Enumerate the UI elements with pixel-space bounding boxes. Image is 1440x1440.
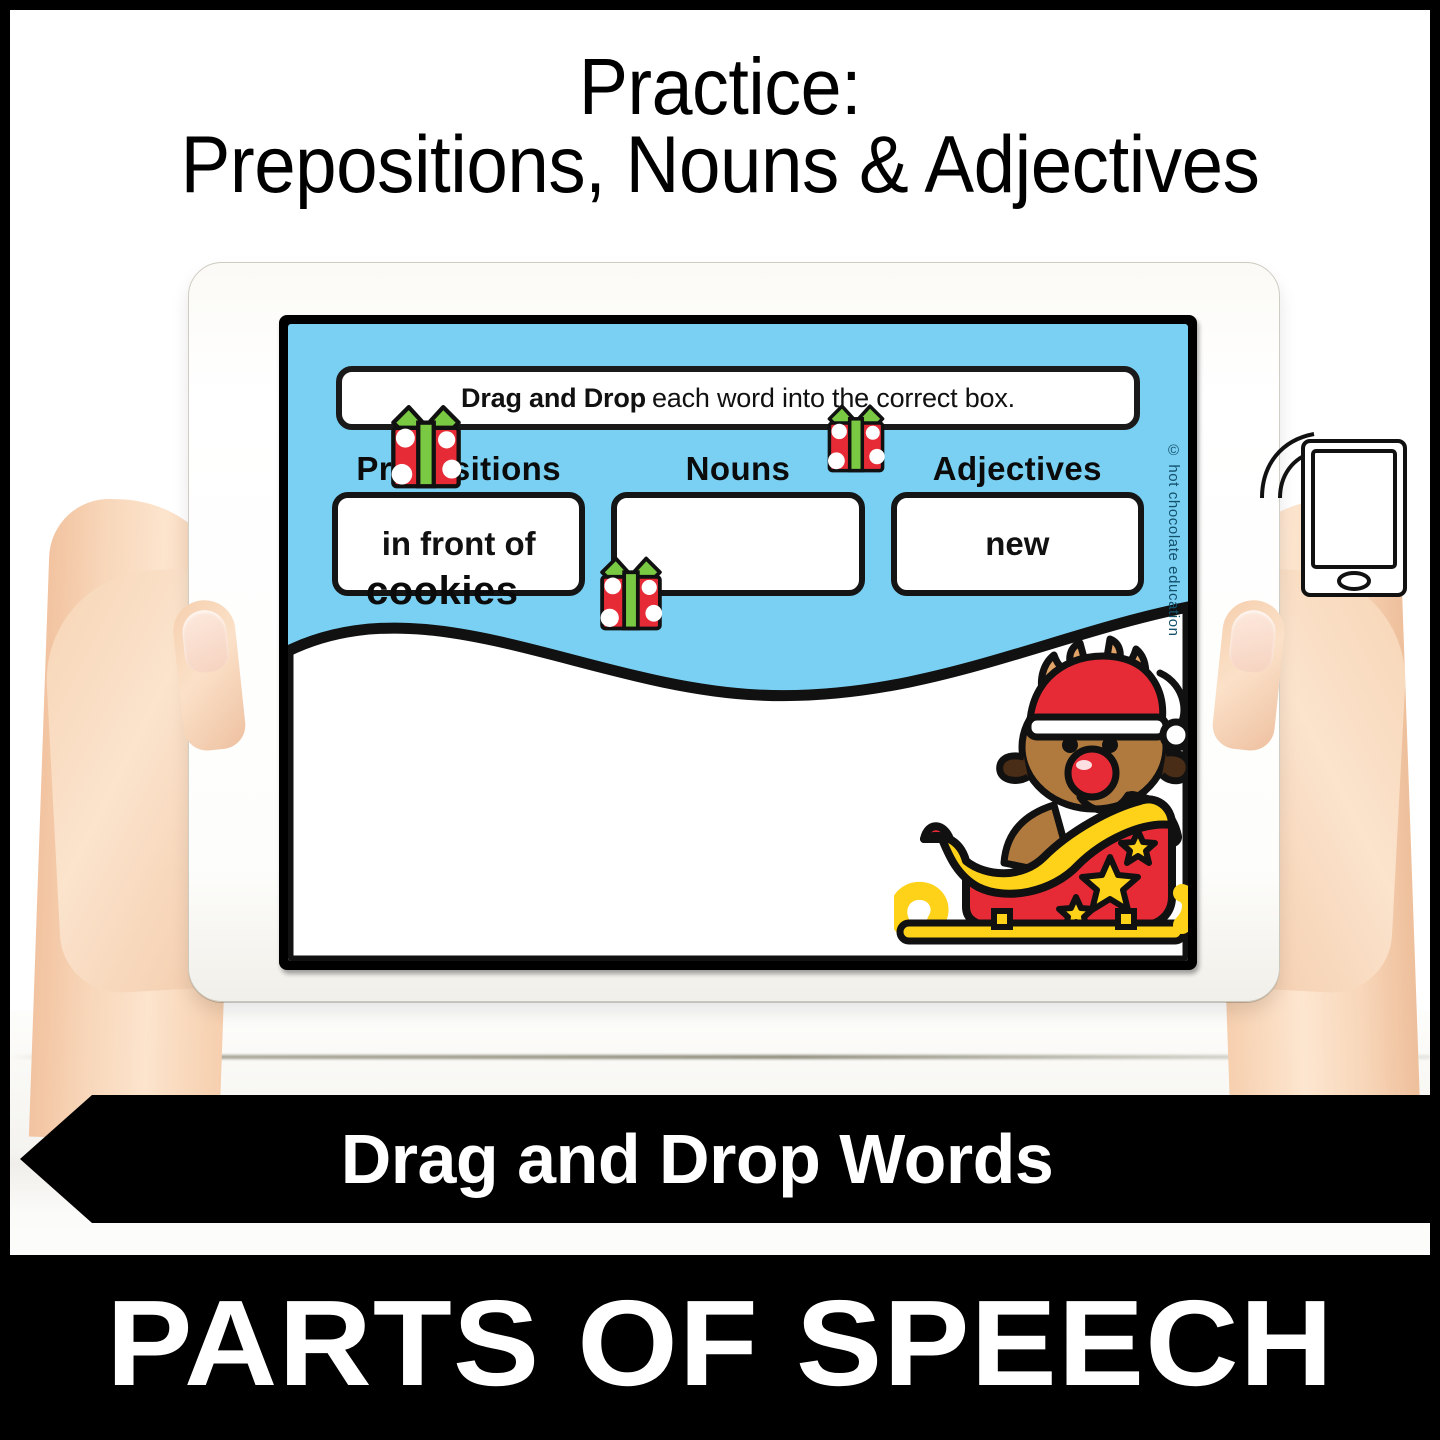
footer-banner-text: PARTS OF SPEECH bbox=[106, 1273, 1334, 1413]
dropbox-adjectives[interactable]: new bbox=[891, 492, 1144, 596]
draggable-word-cookies[interactable]: cookies bbox=[366, 569, 518, 614]
product-photo: Drag and Drop each word into the correct… bbox=[10, 240, 1430, 1110]
column-adjectives: Adjectives new bbox=[891, 450, 1144, 596]
page-title-line-1: Practice: bbox=[67, 48, 1373, 126]
left-thumbnail bbox=[180, 608, 230, 674]
instruction-bold-text: Drag and Drop bbox=[461, 383, 646, 414]
dropbox-word-adjectives[interactable]: new bbox=[985, 527, 1049, 562]
dropbox-word-prepositions[interactable]: in front of bbox=[382, 527, 536, 562]
footer-banner: PARTS OF SPEECH bbox=[10, 1255, 1430, 1430]
reindeer-in-sleigh-icon bbox=[894, 625, 1188, 955]
page-frame: Practice: Prepositions, Nouns & Adjectiv… bbox=[0, 0, 1440, 1440]
tablet-outline-svg bbox=[1300, 438, 1408, 598]
table-edge-line bbox=[10, 1055, 1430, 1059]
page-title-line-2: Prepositions, Nouns & Adjectives bbox=[67, 126, 1373, 205]
page-title: Practice: Prepositions, Nouns & Adjectiv… bbox=[67, 48, 1373, 206]
column-title-nouns: Nouns bbox=[686, 450, 791, 488]
gift-box-icon[interactable] bbox=[383, 402, 469, 492]
tablet-device: Drag and Drop each word into the correct… bbox=[188, 262, 1280, 1002]
right-thumbnail bbox=[1227, 608, 1277, 674]
tablet-device-icon bbox=[1300, 438, 1408, 598]
slide-canvas: Drag and Drop each word into the correct… bbox=[288, 324, 1188, 961]
page-inner: Practice: Prepositions, Nouns & Adjectiv… bbox=[10, 10, 1430, 1430]
watermark-text: © hot chocolate education bbox=[1165, 442, 1182, 637]
reindeer-sleigh-svg bbox=[894, 625, 1188, 955]
subtitle-banner-text: Drag and Drop Words bbox=[341, 1119, 1054, 1199]
gift-box-icon[interactable] bbox=[593, 554, 669, 634]
column-title-adjectives: Adjectives bbox=[933, 450, 1102, 488]
gift-box-icon[interactable] bbox=[821, 402, 891, 476]
gift-box-svg-1 bbox=[383, 402, 469, 491]
gift-box-svg-3 bbox=[593, 554, 669, 633]
gift-box-svg-2 bbox=[821, 402, 891, 475]
slide-frame: Drag and Drop each word into the correct… bbox=[279, 315, 1197, 970]
subtitle-banner: Drag and Drop Words bbox=[20, 1095, 1430, 1223]
